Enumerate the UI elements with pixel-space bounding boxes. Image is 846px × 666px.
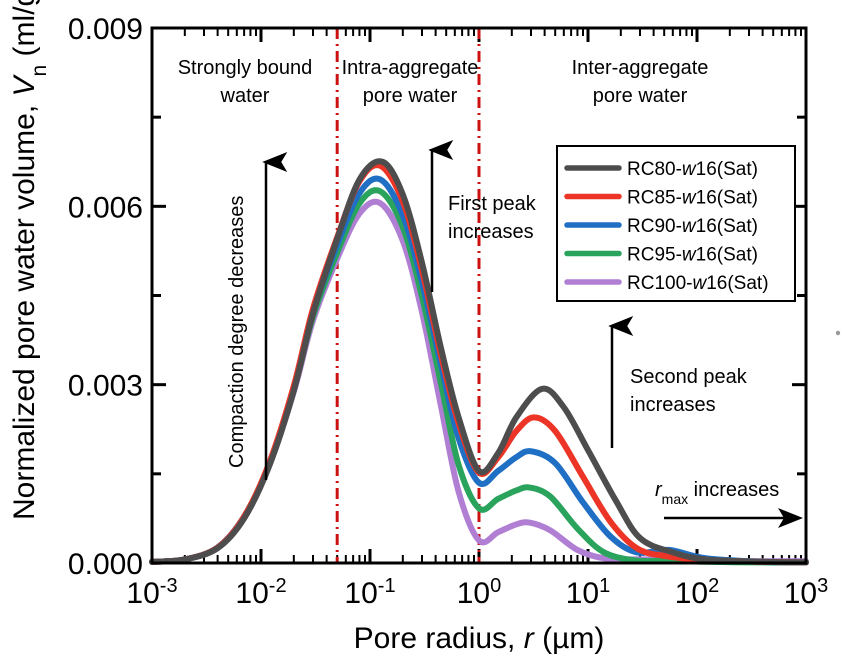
- legend-label[interactable]: RC90-w16(Sat): [627, 216, 758, 237]
- x-axis-title-main: Pore radius,: [354, 622, 516, 655]
- region-label: Strongly bound: [178, 57, 313, 79]
- legend-label[interactable]: RC85-w16(Sat): [627, 188, 758, 209]
- x-tick-labels: 10-310-210-1100101102103: [126, 575, 828, 610]
- region-label-line2: pore water: [593, 85, 688, 107]
- x-tick-label: 100: [457, 575, 502, 610]
- y-tick-labels: 0.0000.0030.0060.009: [68, 13, 143, 581]
- legend-label[interactable]: RC100-w16(Sat): [627, 273, 769, 294]
- legend[interactable]: RC80-w16(Sat)RC85-w16(Sat)RC90-w16(Sat)R…: [557, 146, 795, 301]
- region-label-line2: water: [220, 85, 270, 107]
- x-tick-label: 103: [784, 575, 829, 610]
- legend-label[interactable]: RC95-w16(Sat): [627, 245, 758, 266]
- region-label: Inter-aggregate: [572, 57, 709, 79]
- y-tick-label: 0.006: [68, 191, 143, 224]
- chart-figure: Normalized pore water volume, Vn (ml/g) …: [0, 0, 846, 666]
- svg-text:Normalized pore water volume,: Normalized pore water volume, Vn (ml/g): [8, 0, 51, 520]
- second-peak-annotation: Second peak: [630, 366, 748, 388]
- region-label: Intra-aggregate: [342, 57, 479, 79]
- x-tick-label: 10-1: [344, 575, 395, 610]
- svg-text:Pore radius, r (µm): Pore radius, r (µm): [354, 622, 605, 655]
- second-peak-annotation-line2: increases: [630, 394, 716, 416]
- rmax-annotation: rmax increases: [655, 479, 779, 507]
- y-axis-title-unit: (ml/g): [8, 0, 41, 56]
- x-tick-label: 102: [675, 575, 720, 610]
- legend-label[interactable]: RC80-w16(Sat): [627, 159, 758, 180]
- x-tick-label: 10-2: [235, 575, 286, 610]
- y-axis-title-sub: n: [28, 65, 51, 77]
- region-label-line2: pore water: [363, 85, 458, 107]
- x-tick-label: 101: [566, 575, 611, 610]
- x-tick-label: 10-3: [126, 575, 177, 610]
- y-axis-title-main: Normalized pore water volume,: [8, 105, 41, 520]
- compaction-degree-annotation: Compaction degree decreases: [226, 196, 248, 468]
- first-peak-annotation-line2: increases: [448, 221, 534, 243]
- region-labels: Strongly boundwaterIntra-aggregatepore w…: [178, 57, 709, 107]
- first-peak-annotation: First peak: [448, 193, 537, 215]
- y-axis-title: Normalized pore water volume, Vn (ml/g): [8, 0, 51, 520]
- y-tick-label: 0.009: [68, 13, 143, 46]
- x-axis-title-unit: (µm): [542, 622, 604, 655]
- y-tick-label: 0.003: [68, 370, 143, 403]
- stray-dot: [836, 331, 840, 335]
- pore-water-distribution-chart: Normalized pore water volume, Vn (ml/g) …: [0, 0, 846, 666]
- x-axis-title: Pore radius, r (µm): [354, 622, 605, 655]
